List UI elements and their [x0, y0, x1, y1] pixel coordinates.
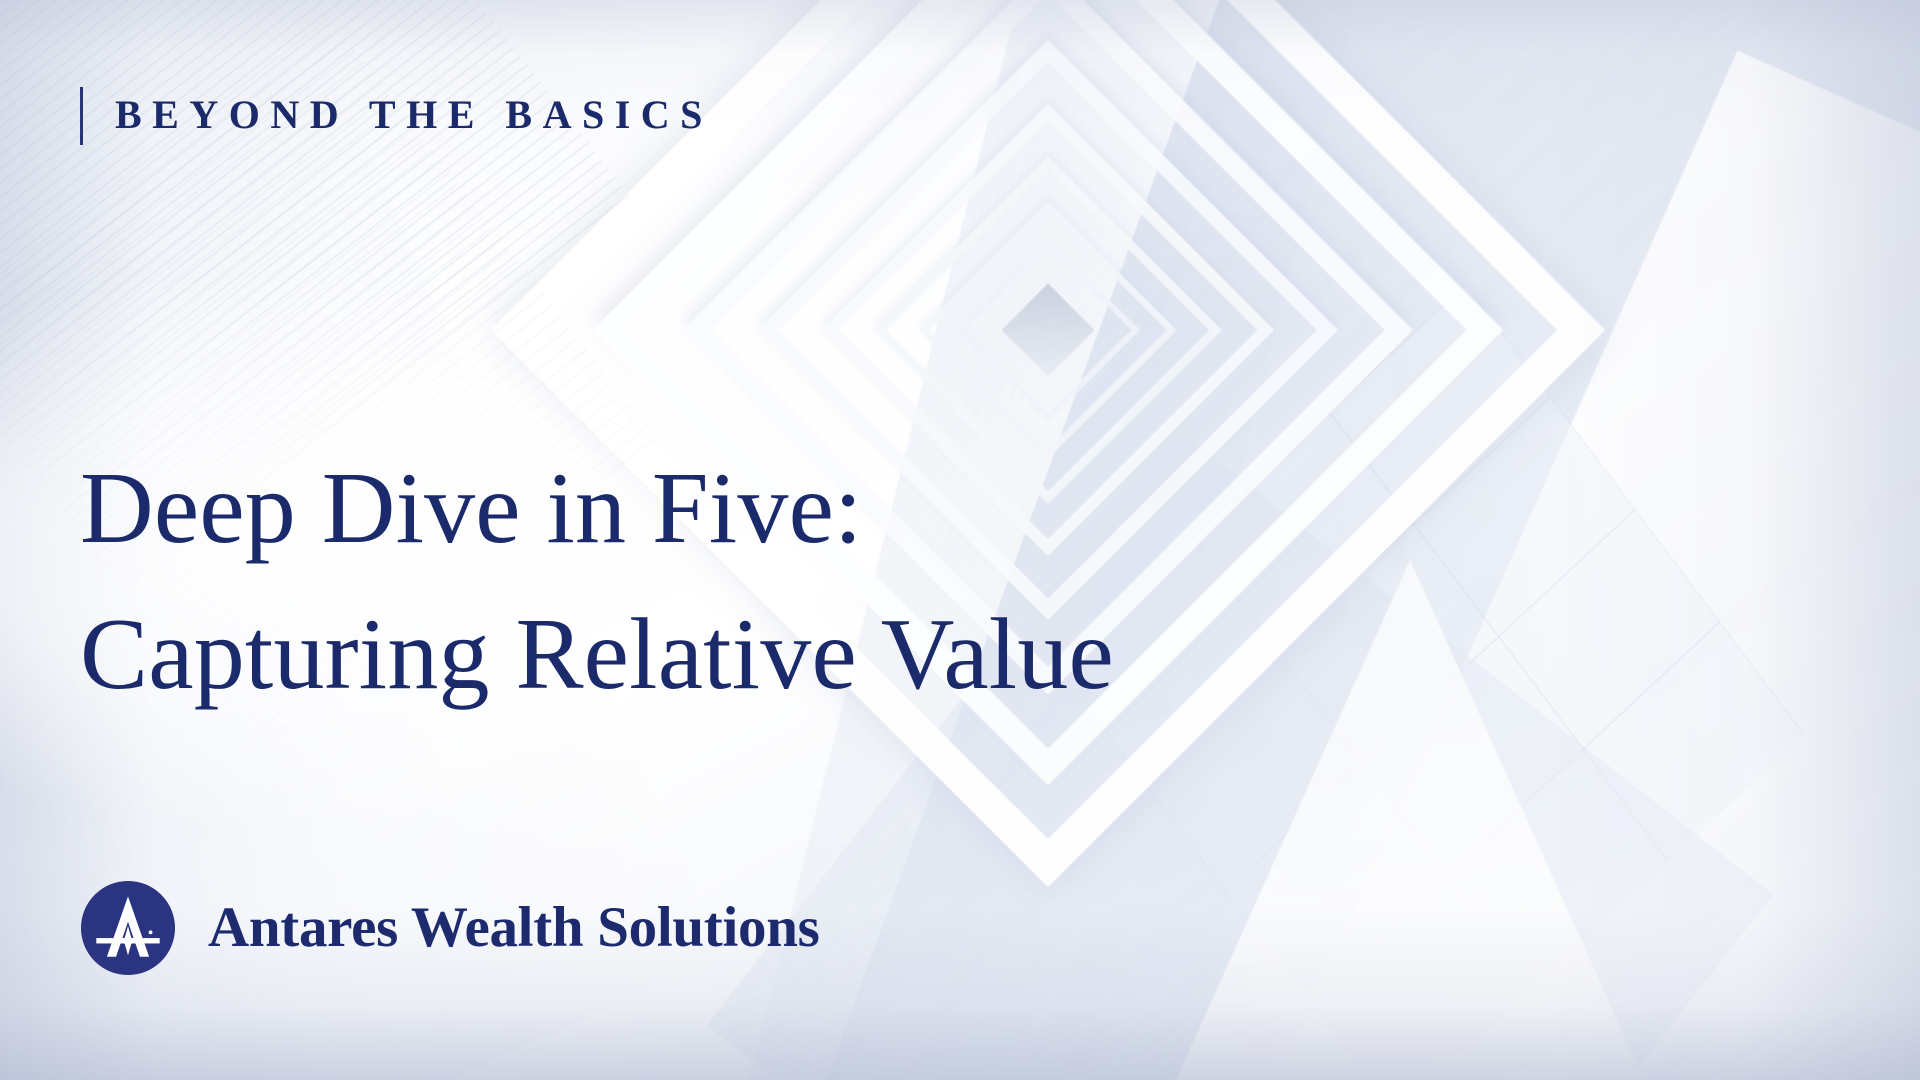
page-title: Deep Dive in Five: Capturing Relative Va… [80, 448, 1114, 716]
antares-a-star-logo-icon [80, 880, 176, 976]
brand-lockup: Antares Wealth Solutions [80, 880, 819, 976]
page-title-line-2: Capturing Relative Value [80, 594, 1114, 716]
eyebrow: BEYOND THE BASICS [80, 84, 713, 148]
brand-name: Antares Wealth Solutions [208, 898, 819, 958]
vertical-rule-icon [80, 87, 83, 145]
slide-content: BEYOND THE BASICS Deep Dive in Five: Cap… [0, 0, 1920, 1080]
title-slide: BEYOND THE BASICS Deep Dive in Five: Cap… [0, 0, 1920, 1080]
eyebrow-label: BEYOND THE BASICS [115, 84, 713, 148]
page-title-line-1: Deep Dive in Five: [80, 448, 1114, 570]
